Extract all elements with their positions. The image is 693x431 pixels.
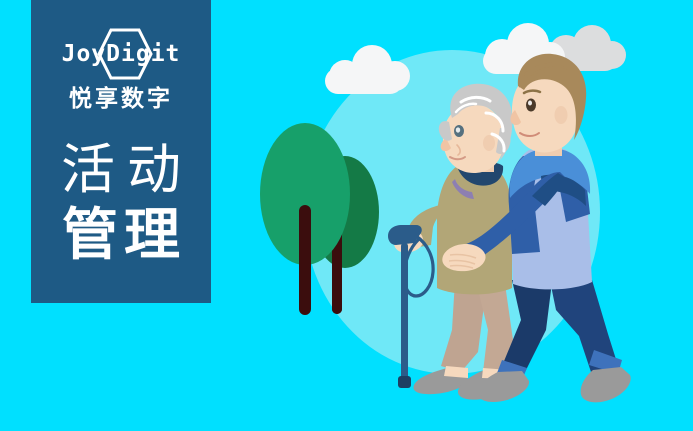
- brand-chinese-name: 悦享数字: [31, 84, 211, 112]
- page-title-line-1: 活动: [31, 140, 211, 200]
- cloud-left: [325, 45, 410, 94]
- brand-wordmark: JoyDigit: [31, 42, 211, 66]
- illustration-canvas: JoyDigit 悦享数字 活动 管理: [0, 0, 693, 431]
- page-title-line-2: 管理: [31, 204, 211, 266]
- man-front-leg: [549, 276, 631, 402]
- artboard: JoyDigit 悦享数字 活动 管理: [0, 0, 693, 431]
- brand-logo: JoyDigit 悦享数字: [31, 22, 211, 122]
- title-panel: JoyDigit 悦享数字 活动 管理: [31, 0, 211, 303]
